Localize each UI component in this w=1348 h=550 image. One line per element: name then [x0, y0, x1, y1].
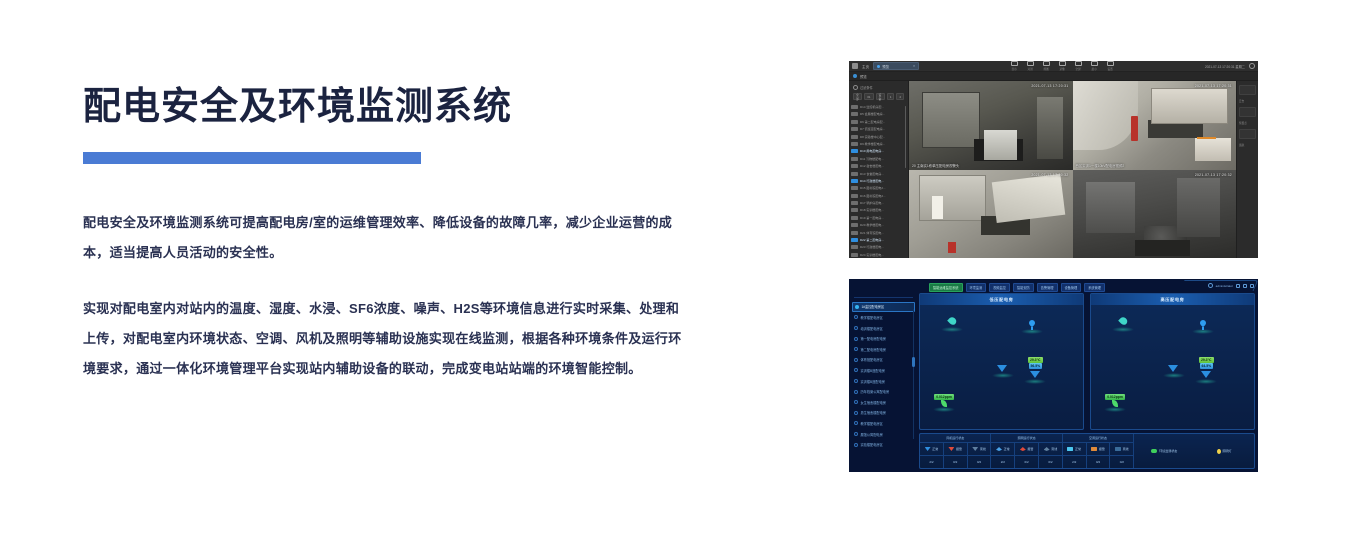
legend-column: 离线0/2 — [1110, 443, 1133, 468]
camera-icon — [851, 208, 858, 212]
message-icon[interactable] — [1243, 284, 1247, 288]
camera-name: D22 第二配电房... — [860, 238, 884, 242]
camera-icon — [851, 238, 858, 242]
camera-icon — [851, 172, 858, 176]
gas-sensor[interactable]: 0.012ppm — [933, 394, 955, 412]
camera-name: D14 行政楼配电... — [860, 179, 884, 183]
sidebar-room-item[interactable]: 教学楼配电房区 — [852, 312, 915, 323]
sidebar-room-label: 实训楼B座配电房 — [861, 368, 885, 373]
room-title: 低压配电房 — [920, 294, 1083, 305]
video-timestamp: 2021-07-13 17:20:32 — [1031, 173, 1068, 177]
page-title: 配电安全及环境监测系统 — [83, 86, 683, 130]
sidebar-room-label: 实训楼B座配电房 — [861, 379, 885, 384]
legend-status-label: 报警 — [1099, 447, 1105, 451]
camera-list-item[interactable]: D8 实验楼中心配... — [851, 134, 903, 140]
camera-name: D20 教学楼配电... — [860, 223, 884, 227]
legend-count-row: 0/2 — [1110, 456, 1133, 468]
camera-name: D18 实训楼配电... — [860, 208, 884, 212]
sidebar-room-label: 体育馆配电房区 — [861, 357, 883, 362]
cctv-subbar: 预览 — [849, 72, 1258, 81]
camera-name: D15 图书馆配电2... — [860, 186, 886, 190]
sidebar-room-label: 第一配电房配电房 — [861, 336, 887, 341]
fan-icon — [1030, 369, 1041, 380]
dashboard-user-area[interactable]: administrator — [1208, 283, 1254, 288]
legend-count-row: 2/2 — [920, 456, 943, 468]
promo-page: 配电安全及环境监测系统 配电安全及环境监测系统可提高配电房/室的运维管理效率、降… — [0, 0, 1348, 550]
camera-list-item[interactable]: D14 监控机房配... — [851, 104, 903, 110]
search-icon — [853, 85, 858, 90]
legend-column: 正常2/2 — [1063, 443, 1087, 468]
legend-status-label: 离线 — [980, 447, 986, 451]
cctv-tab-label: 预览 — [882, 64, 889, 69]
fullscreen-tool[interactable]: 全屏 — [1075, 61, 1082, 71]
legend-column: 报警0/2 — [1015, 443, 1039, 468]
dashboard-header: 智能运维监控系统环境监测视频监控智能安防告警管理设备管理系统管理 adminis… — [849, 279, 1258, 293]
sidebar-room-label: 第二配电房配电房 — [861, 347, 887, 352]
legend-status-label: 正常 — [932, 447, 938, 451]
cctv-preview-tab[interactable]: 预览 × — [873, 62, 919, 70]
legend-count: 0/2 — [1025, 460, 1029, 464]
status-swatch-icon — [1067, 447, 1073, 451]
video-timestamp: 2021-07-13 17:20:32 — [1195, 173, 1232, 177]
logout-icon[interactable] — [1250, 284, 1254, 288]
camera-icon — [851, 164, 858, 168]
lamp-sensor[interactable] — [1192, 319, 1214, 334]
camera-name: D19 第一配电房... — [860, 216, 884, 220]
status-swatch-icon — [925, 447, 931, 451]
ptz-control[interactable] — [1239, 85, 1256, 95]
fullscreen-tool-label: 全屏 — [1075, 67, 1080, 71]
record-tool[interactable]: 录像 — [1059, 61, 1066, 71]
camera-name: D6 第二配电房配... — [860, 120, 885, 124]
dashboard-tab[interactable]: 设备管理 — [1061, 283, 1082, 292]
legend-count: 0/2 — [1096, 460, 1100, 464]
legend-status-row: 正常 — [991, 443, 1014, 456]
camera-name: D23 行政楼配电... — [860, 245, 884, 249]
status-dot-icon — [854, 400, 858, 404]
sidebar-room-item[interactable]: 第二配电房配电房 — [852, 344, 915, 355]
display-tool[interactable]: 显示 — [1011, 61, 1018, 71]
legend-single-label: 环境监测状态 — [1159, 449, 1177, 453]
minimize-tool[interactable]: 最小 — [1091, 61, 1098, 71]
dashboard-tab[interactable]: 智能运维监控系统 — [929, 283, 963, 292]
snapshot-tool[interactable]: 抓图 — [1043, 61, 1050, 71]
microphone-icon — [1027, 61, 1034, 66]
accent-bar — [83, 152, 421, 164]
camera-name: D14 监控机房配... — [860, 105, 884, 109]
legend-count: 0/2 — [1120, 460, 1124, 464]
dashboard-content: 低压配电房29.3℃56.5%0.012ppm高压配电房29.3℃64.5%0.… — [919, 293, 1255, 469]
legend-count-row: 0/2 — [944, 456, 967, 468]
camera-list-item[interactable]: D15 图书馆配电2... — [851, 185, 903, 191]
camera-name: D13 食堂配电房... — [860, 172, 884, 176]
camera-name: D21 体育馆配电... — [860, 231, 884, 235]
filter-button-3[interactable]: 1 — [887, 93, 895, 100]
camera-list-item[interactable]: D9 教学楼配电房... — [851, 141, 903, 147]
status-swatch-icon — [972, 447, 978, 451]
record-tool-label: 录像 — [1059, 67, 1064, 71]
camera-filter-placeholder: 过滤条件 — [860, 85, 873, 90]
status-dot-icon — [854, 421, 858, 425]
status-swatch-icon — [1115, 447, 1121, 451]
camera-list-item[interactable]: D6 第二配电房配... — [851, 119, 903, 125]
lamp-sensor[interactable] — [1021, 319, 1043, 334]
camera-icon — [851, 127, 858, 131]
status-dot-icon — [854, 347, 858, 351]
legend-count-row: 0/2 — [1039, 456, 1062, 468]
cctv-topbar: 主页 预览 × 显示 对讲 抓图 录像 全屏 最小 设置 2021-07-13 … — [849, 61, 1258, 72]
video-camera-label: 西区实训1一楼10kV配电房视频2 — [1076, 163, 1125, 168]
legend-column: 正常2/2 — [991, 443, 1015, 468]
camera-icon — [851, 201, 858, 205]
legend-status-label: 离线 — [1123, 447, 1129, 451]
camera-icon — [851, 149, 858, 153]
status-dot-icon — [854, 390, 858, 394]
legend-status-label: 报警 — [956, 447, 962, 451]
sidebar-room-label: 实验楼配电房区 — [861, 442, 883, 447]
ptz-label-1: 预置点 — [1239, 121, 1256, 125]
legend-status-row: 正常 — [1063, 443, 1086, 456]
legend-status-label: 离线 — [1051, 447, 1057, 451]
camera-feed-image — [909, 170, 1073, 259]
sidebar-room-item[interactable]: 历年档案公寓配电房 — [852, 386, 915, 397]
camera-icon — [851, 231, 858, 235]
video-timestamp: 2021-07-13 17:20:31 — [1195, 84, 1232, 88]
temp-humidity-sensor[interactable]: 29.3℃64.5% — [1195, 357, 1217, 384]
camera-list-item[interactable]: D5 会展楼配电房... — [851, 111, 903, 117]
camera-name: D11 污物楼配电... — [860, 157, 884, 161]
legend-status-label: 正常 — [1004, 447, 1010, 451]
dashboard-tab[interactable]: 环境监测 — [966, 283, 987, 292]
dashboard-tab[interactable]: 视频监控 — [989, 283, 1010, 292]
sidebar-room-label: 教学楼配电房区 — [861, 315, 883, 320]
camera-icon — [851, 157, 858, 161]
tab-dot-icon — [877, 65, 880, 68]
camera-list-item[interactable]: D24 实训楼配电... — [851, 252, 903, 258]
audio-tool-label: 对讲 — [1027, 67, 1032, 71]
filter-button-4[interactable]: 2 — [896, 93, 904, 100]
legend-column: 正常2/2 — [920, 443, 944, 468]
water-icon — [947, 317, 958, 328]
camera-list-item[interactable]: D7 值班室配电房... — [851, 126, 903, 132]
display-tool-label: 显示 — [1011, 67, 1016, 71]
camera-feed-image — [1073, 81, 1237, 170]
settings-tool[interactable]: 设置 — [1107, 61, 1114, 71]
cctv-camera-sidebar: 过滤条件 全部 01 设备 1 2 D14 监控机房配...D5 会展楼配电房.… — [849, 81, 909, 258]
sidebar-room-item[interactable]: 1#监控配电房区 — [852, 302, 915, 313]
paragraph-1: 配电安全及环境监测系统可提高配电房/室的运维管理效率、降低设备的故障几率，减少企… — [83, 208, 683, 268]
fullscreen-icon — [1075, 61, 1082, 66]
camera-name: D24 实训楼配电... — [860, 253, 884, 257]
legend-single: 照明灯 — [1194, 434, 1254, 468]
legend-status-row: 报警 — [1087, 443, 1110, 456]
lamp-icon — [1198, 319, 1209, 330]
fan-icon — [1201, 369, 1212, 380]
audio-tool[interactable]: 对讲 — [1027, 61, 1034, 71]
leaf-icon — [940, 400, 948, 408]
cctv-clock: 2021-07-13 17:20:31 星期二 — [1205, 64, 1245, 69]
lamp-icon — [1027, 319, 1038, 330]
camera-icon — [851, 194, 858, 198]
record-icon — [1059, 61, 1066, 66]
ptz-label-0: 云台 — [1239, 99, 1256, 103]
sidebar-room-item[interactable]: 培训楼配电房区 — [852, 323, 915, 334]
camera-list-item[interactable]: D23 行政楼配电... — [851, 244, 903, 250]
dashboard-sidebar: 1#监控配电房区教学楼配电房区培训楼配电房区第一配电房配电房第二配电房配电房体育… — [852, 293, 915, 469]
cctv-video-grid: 2021-07-13 17:20:3120 主南实1栋单压配电房视警头2021-… — [909, 81, 1236, 258]
snapshot-tool-label: 抓图 — [1043, 67, 1048, 71]
legend-group: 照明运行状态正常2/2报警0/2离线0/2 — [991, 434, 1062, 468]
camera-list-item[interactable]: D16 图书馆配电2... — [851, 193, 903, 199]
text-column: 配电安全及环境监测系统 配电安全及环境监测系统可提高配电房/室的运维管理效率、降… — [83, 86, 683, 384]
water-icon — [1118, 317, 1129, 328]
cruise-control[interactable] — [1239, 129, 1256, 139]
camera-icon — [851, 253, 858, 257]
status-legend: 风机运行状态正常2/2报警0/2离线0/2照明运行状态正常2/2报警0/2离线0… — [919, 433, 1255, 469]
status-dot-icon — [854, 315, 858, 319]
room-panels: 低压配电房29.3℃56.5%0.012ppm高压配电房29.3℃64.5%0.… — [919, 293, 1255, 430]
dashboard-tab[interactable]: 智能安防 — [1013, 283, 1034, 292]
legend-group-title: 照明运行状态 — [991, 434, 1061, 443]
sidebar-room-label: 男生宿舍楼配电房 — [861, 410, 887, 415]
preset-control[interactable] — [1239, 107, 1256, 117]
cctv-body: 过滤条件 全部 01 设备 1 2 D14 监控机房配...D5 会展楼配电房.… — [849, 81, 1258, 258]
username: administrator — [1216, 284, 1233, 288]
legend-group-title: 空调运行状态 — [1063, 434, 1133, 443]
legend-status-row: 报警 — [944, 443, 967, 456]
fan-icon — [997, 363, 1008, 374]
legend-column: 离线0/2 — [968, 443, 991, 468]
status-dot-icon — [854, 432, 858, 436]
camera-list: D14 监控机房配...D5 会展楼配电房...D6 第二配电房配...D7 值… — [851, 104, 906, 258]
body-copy: 配电安全及环境监测系统可提高配电房/室的运维管理效率、降低设备的故障几率，减少企… — [83, 208, 683, 384]
sidebar-room-item[interactable]: 男生宿舍楼配电房 — [852, 408, 915, 419]
legend-column: 报警0/2 — [944, 443, 968, 468]
camera-list-item[interactable]: D13 食堂配电房... — [851, 171, 903, 177]
camera-list-item[interactable]: D21 体育馆配电... — [851, 230, 903, 236]
environment-dashboard-screenshot: 智能运维监控系统环境监测视频监控智能安防告警管理设备管理系统管理 adminis… — [849, 279, 1258, 472]
legend-count-row: 2/2 — [1063, 456, 1086, 468]
dashboard-tab[interactable]: 告警管理 — [1037, 283, 1058, 292]
camera-icon — [851, 216, 858, 220]
legend-count-row: 0/2 — [1015, 456, 1038, 468]
legend-count: 0/2 — [977, 460, 981, 464]
sidebar-room-label: 历年档案公寓配电房 — [861, 389, 890, 394]
fan-sensor[interactable] — [992, 363, 1014, 378]
filter-button-0[interactable]: 全部 — [853, 93, 862, 100]
status-dot-icon — [854, 358, 858, 362]
filter-button-2[interactable]: 设备 — [876, 93, 885, 100]
video-timestamp: 2021-07-13 17:20:31 — [1031, 84, 1068, 88]
dashboard-tab[interactable]: 系统管理 — [1084, 283, 1105, 292]
camera-list-item[interactable]: D11 污物楼配电... — [851, 156, 903, 162]
camera-icon — [851, 179, 858, 183]
legend-status-label: 正常 — [1075, 447, 1081, 451]
camera-list-scrollbar[interactable] — [905, 106, 906, 168]
room-diagram: 29.3℃64.5%0.012ppm — [1091, 305, 1254, 429]
legend-columns: 正常2/2报警0/2离线0/2 — [920, 443, 990, 468]
fan-sensor[interactable] — [1163, 363, 1185, 378]
legend-single: 环境监测状态 — [1134, 434, 1194, 468]
user-avatar-icon[interactable] — [1249, 63, 1255, 69]
sidebar-room-item[interactable]: 展馆公寓配电房 — [852, 429, 915, 440]
camera-list-item[interactable]: D19 第一配电房... — [851, 215, 903, 221]
sidebar-room-label: 1#监控配电房区 — [862, 304, 885, 309]
ptz-label-2: 巡航 — [1239, 143, 1256, 147]
room-panel[interactable]: 高压配电房29.3℃64.5%0.012ppm — [1090, 293, 1255, 430]
sidebar-list: 1#监控配电房区教学楼配电房区培训楼配电房区第一配电房配电房第二配电房配电房体育… — [852, 302, 915, 450]
cctv-screenshot: 主页 预览 × 显示 对讲 抓图 录像 全屏 最小 设置 2021-07-13 … — [849, 61, 1258, 258]
legend-status-row: 离线 — [1039, 443, 1062, 456]
legend-column: 离线0/2 — [1039, 443, 1062, 468]
legend-columns: 正常2/2报警0/2离线0/2 — [1063, 443, 1133, 468]
camera-list-item[interactable]: D12 宿舍楼配电... — [851, 163, 903, 169]
status-dot-icon — [854, 368, 858, 372]
sidebar-room-item[interactable]: 实训楼B座配电房 — [852, 376, 915, 387]
camera-icon — [851, 112, 858, 116]
cctv-menu-label: 主页 — [862, 64, 869, 69]
legend-swatch-icon — [1217, 449, 1221, 454]
camera-name: D12 宿舍楼配电... — [860, 164, 884, 168]
camera-list-item[interactable]: D20 教学楼配电... — [851, 222, 903, 228]
legend-status-row: 离线 — [968, 443, 991, 456]
camera-list-item[interactable]: D17 锅炉房配电... — [851, 200, 903, 206]
cctv-toolbar: 显示 对讲 抓图 录像 全屏 最小 设置 — [1011, 61, 1114, 71]
camera-icon — [851, 142, 858, 146]
fan-icon — [1168, 363, 1179, 374]
sidebar-room-label: 展馆公寓配电房 — [861, 432, 883, 437]
camera-name: D9 教学楼配电房... — [860, 142, 885, 146]
camera-feed-image — [909, 81, 1073, 170]
camera-filter-buttons: 全部 01 设备 1 2 — [851, 93, 906, 104]
grid-menu-icon[interactable] — [852, 63, 858, 69]
water-sensor[interactable] — [941, 317, 963, 332]
status-dot-icon — [854, 411, 858, 415]
water-sensor[interactable] — [1112, 317, 1134, 332]
video-cell[interactable]: 2021-07-13 17:20:32 — [909, 170, 1073, 259]
paragraph-2: 实现对配电室内对站内的温度、湿度、水浸、SF6浓度、噪声、H2S等环境信息进行实… — [83, 294, 683, 384]
camera-icon — [851, 135, 858, 139]
legend-status-row: 正常 — [920, 443, 943, 456]
cctv-subbar-label: 预览 — [860, 74, 867, 79]
legend-status-label: 报警 — [1027, 447, 1033, 451]
camera-icon — [851, 245, 858, 249]
legend-count: 0/2 — [953, 460, 957, 464]
preview-dot-icon — [853, 74, 857, 78]
legend-swatch-icon — [1151, 449, 1157, 453]
legend-group: 风机运行状态正常2/2报警0/2离线0/2 — [920, 434, 991, 468]
dashboard-main: 1#监控配电房区教学楼配电房区培训楼配电房区第一配电房配电房第二配电房配电房体育… — [849, 293, 1258, 472]
minimize-tool-label: 最小 — [1091, 67, 1096, 71]
sidebar-room-item[interactable]: 实训楼B座配电房 — [852, 365, 915, 376]
camera-name: D5 会展楼配电房... — [860, 112, 885, 116]
camera-icon — [1043, 61, 1050, 66]
legend-columns: 正常2/2报警0/2离线0/2 — [991, 443, 1061, 468]
avatar — [1208, 283, 1213, 288]
legend-column: 报警0/2 — [1087, 443, 1111, 468]
status-dot-icon — [854, 337, 858, 341]
camera-name: D16 图书馆配电2... — [860, 194, 886, 198]
video-cell[interactable]: 2021-07-13 17:20:32 — [1073, 170, 1237, 259]
room-panel[interactable]: 低压配电房29.3℃56.5%0.012ppm — [919, 293, 1084, 430]
camera-icon — [851, 223, 858, 227]
legend-count: 2/2 — [929, 460, 933, 464]
close-icon[interactable]: × — [913, 64, 915, 68]
camera-icon — [851, 186, 858, 190]
sidebar-room-item[interactable]: 第一配电房配电房 — [852, 333, 915, 344]
sidebar-room-label: 女生宿舍楼配电房 — [861, 400, 887, 405]
sidebar-divider — [854, 297, 913, 298]
legend-count-row: 0/2 — [1087, 456, 1110, 468]
display-icon — [1011, 61, 1018, 66]
video-cell[interactable]: 2021-07-13 17:20:31西区实训1一楼10kV配电房视频2 — [1073, 81, 1237, 170]
room-diagram: 29.3℃56.5%0.012ppm — [920, 305, 1083, 429]
camera-list-item[interactable]: D18 实训楼配电... — [851, 207, 903, 213]
status-dot-icon — [854, 379, 858, 383]
video-cell[interactable]: 2021-07-13 17:20:3120 主南实1栋单压配电房视警头 — [909, 81, 1073, 170]
filter-button-1[interactable]: 01 — [864, 93, 873, 100]
status-dot-icon — [855, 305, 859, 309]
camera-name: D17 锅炉房配电... — [860, 201, 884, 205]
sidebar-room-item[interactable]: 女生宿舍楼配电房 — [852, 397, 915, 408]
sidebar-room-item[interactable]: 实验楼配电房区 — [852, 439, 915, 450]
camera-list-item[interactable]: D22 第二配电房... — [851, 237, 903, 243]
leaf-icon — [1111, 400, 1119, 408]
legend-count: 2/2 — [1072, 460, 1076, 464]
sidebar-scrollbar[interactable] — [913, 309, 914, 439]
legend-status-row: 报警 — [1015, 443, 1038, 456]
legend-count: 0/2 — [1048, 460, 1052, 464]
legend-status-row: 离线 — [1110, 443, 1133, 456]
legend-count-row: 2/2 — [991, 456, 1014, 468]
temp-humidity-sensor[interactable]: 29.3℃56.5% — [1024, 357, 1046, 384]
legend-group-title: 风机运行状态 — [920, 434, 990, 443]
camera-name: D10 用电配电房... — [860, 149, 884, 153]
status-swatch-icon — [1044, 447, 1050, 451]
video-camera-label: 20 主南实1栋单压配电房视警头 — [912, 163, 959, 168]
camera-list-item[interactable]: D10 用电配电房... — [851, 148, 903, 154]
room-title: 高压配电房 — [1091, 294, 1254, 305]
camera-icon — [851, 105, 858, 109]
camera-name: D7 值班室配电房... — [860, 127, 885, 131]
status-swatch-icon — [1020, 447, 1026, 451]
sidebar-room-label: 教学楼配电房区 — [861, 421, 883, 426]
gas-sensor[interactable]: 0.012ppm — [1104, 394, 1126, 412]
camera-list-item[interactable]: D14 行政楼配电... — [851, 178, 903, 184]
status-swatch-icon — [1091, 447, 1097, 451]
camera-feed-image — [1073, 170, 1237, 259]
status-dot-icon — [854, 443, 858, 447]
status-swatch-icon — [948, 447, 954, 451]
legend-count-row: 0/2 — [968, 456, 991, 468]
status-swatch-icon — [996, 447, 1002, 451]
help-icon[interactable] — [1236, 284, 1240, 288]
sidebar-room-item[interactable]: 体育馆配电房区 — [852, 355, 915, 366]
settings-tool-label: 设置 — [1107, 67, 1112, 71]
sidebar-room-label: 培训楼配电房区 — [861, 326, 883, 331]
gear-icon — [1107, 61, 1114, 66]
camera-name: D8 实验楼中心配... — [860, 135, 885, 139]
legend-group: 空调运行状态正常2/2报警0/2离线0/2 — [1063, 434, 1134, 468]
legend-count: 2/2 — [1001, 460, 1005, 464]
dashboard-nav-tabs: 智能运维监控系统环境监测视频监控智能安防告警管理设备管理系统管理 — [929, 283, 1105, 292]
legend-single-label: 照明灯 — [1223, 449, 1232, 453]
status-dot-icon — [854, 326, 858, 330]
cctv-ptz-panel: 云台 预置点 巡航 — [1236, 81, 1258, 258]
camera-icon — [851, 120, 858, 124]
sidebar-room-item[interactable]: 教学楼配电房区 — [852, 418, 915, 429]
minimize-icon — [1091, 61, 1098, 66]
